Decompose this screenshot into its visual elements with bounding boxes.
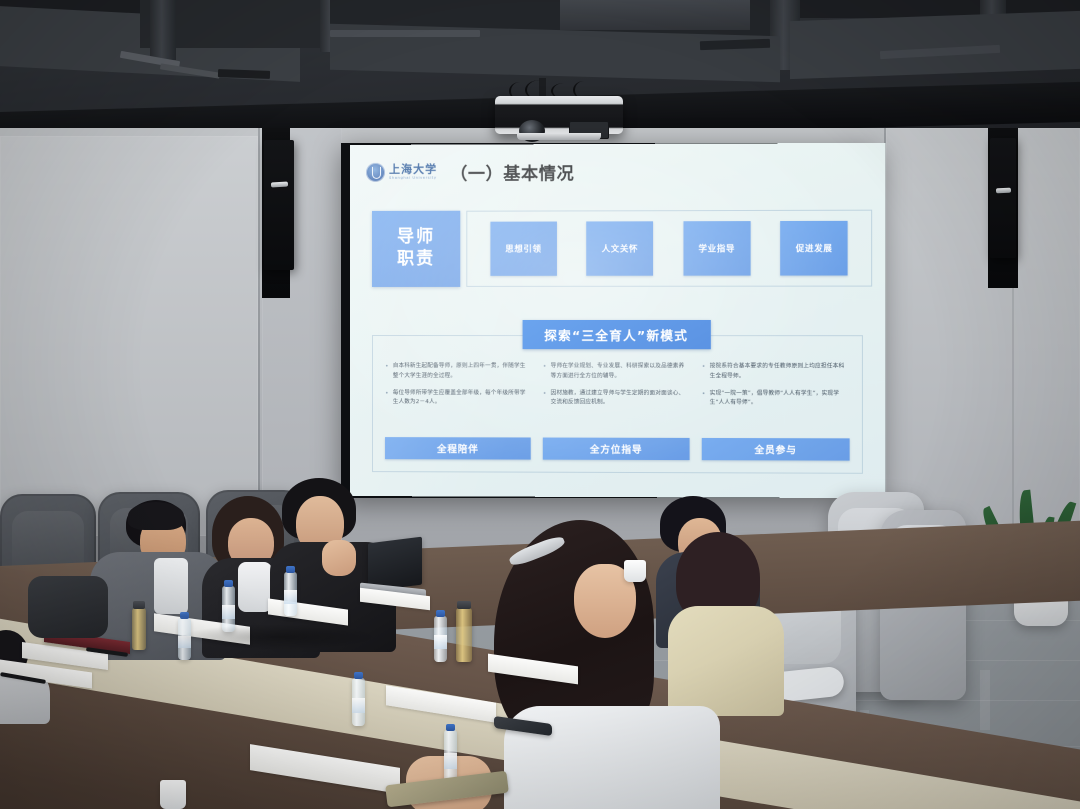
paper-cup-back[interactable] <box>624 560 646 582</box>
laptop-screen[interactable] <box>368 537 422 592</box>
bag <box>28 576 108 638</box>
duty-main-line-2: 职责 <box>397 251 435 269</box>
pillar-tag-1: 全程陪伴 <box>385 437 531 459</box>
shirt-collar <box>154 558 188 614</box>
duty-main-line-1: 导师 <box>397 229 435 247</box>
duty-item-4: 促进发展 <box>780 221 847 276</box>
ceiling-projector <box>487 78 632 140</box>
slide-title: （一）基本情况 <box>450 159 574 185</box>
pillar-column-2: •导师在学业规划、专业发展、科研探索以及品德素养等方面进行全方位的辅导。 •因材… <box>543 362 690 460</box>
hair-front <box>128 502 184 530</box>
presentation-slide: 上海大学 Shanghai University （一）基本情况 导师 职责 思… <box>350 143 885 498</box>
duty-item-2: 人文关怀 <box>586 221 653 275</box>
paper-cup[interactable] <box>160 780 186 809</box>
pillar-tag-2: 全方位指导 <box>543 438 690 461</box>
pillar-column-3: •按院系符合基本要求的专任教师原则上均应担任本科生全程导师。 •实现“一院一策”… <box>702 362 850 460</box>
tea-flask[interactable] <box>456 608 472 662</box>
hands-clasped <box>322 540 356 576</box>
pillar-tag-3: 全员参与 <box>702 438 850 461</box>
slide-banner: 探索“三全育人”新模式 <box>522 320 710 349</box>
projection-screen: 上海大学 Shanghai University （一）基本情况 导师 职责 思… <box>341 143 881 498</box>
pillar-column-1: •自本科新生起配备导师，原则上四年一贯，伴随学生整个大学生涯的全过程。 •每位导… <box>385 362 531 460</box>
shirt <box>238 562 272 612</box>
speaker-right <box>990 138 1016 258</box>
logo-text-en: Shanghai University <box>389 176 437 180</box>
tea-flask-small[interactable] <box>132 608 146 650</box>
university-logo: 上海大学 Shanghai University <box>366 162 437 181</box>
three-pillar-container: •自本科新生起配备导师，原则上四年一贯，伴随学生整个大学生涯的全过程。 •每位导… <box>372 335 863 474</box>
projector-body <box>495 96 623 134</box>
bullet-item: •实现“一院一策”，倡导教师“人人有学生”，实现学生“人人有导师”。 <box>702 389 850 409</box>
bullet-text: 实现“一院一策”，倡导教师“人人有学生”，实现学生“人人有导师”。 <box>710 389 850 409</box>
bullet-item: •自本科新生起配备导师，原则上四年一贯，伴随学生整个大学生涯的全过程。 <box>385 362 531 382</box>
duty-item-3: 学业指导 <box>683 221 750 276</box>
speaker-left <box>264 140 294 270</box>
table-shadow <box>180 624 380 650</box>
bullet-text: 自本科新生起配备导师，原则上四年一贯，伴随学生整个大学生涯的全过程。 <box>393 362 531 382</box>
bullet-text: 导师在学业规划、专业发展、科研探索以及品德素养等方面进行全方位的辅导。 <box>551 362 690 382</box>
shanghai-university-emblem-icon <box>366 162 385 181</box>
bullet-item: •按院系符合基本要求的专任教师原则上均应担任本科生全程导师。 <box>702 362 850 382</box>
slide-header: 上海大学 Shanghai University （一）基本情况 <box>366 153 871 189</box>
bullet-text: 因材施教，通过建立导师与学生定期的面对面谈心、交流和反馈回应机制。 <box>551 389 690 409</box>
conference-room-scene: 上海大学 Shanghai University （一）基本情况 导师 职责 思… <box>0 0 1080 809</box>
duty-items-container: 思想引领 人文关怀 学业指导 促进发展 <box>466 210 872 287</box>
logo-text-cn: 上海大学 <box>389 163 437 174</box>
water-bottle[interactable] <box>284 572 297 616</box>
bullet-item: •导师在学业规划、专业发展、科研探索以及品德素养等方面进行全方位的辅导。 <box>543 362 690 382</box>
bullet-text: 每位导师所带学生应覆盖全部年级，每个年级所带学生人数为2－4人。 <box>393 389 531 409</box>
bullet-item: •每位导师所带学生应覆盖全部年级，每个年级所带学生人数为2－4人。 <box>385 389 531 409</box>
bullet-item: •因材施教，通过建立导师与学生定期的面对面谈心、交流和反馈回应机制。 <box>543 389 690 409</box>
projector-base <box>517 133 601 140</box>
bullet-text: 按院系符合基本要求的专任教师原则上均应担任本科生全程导师。 <box>710 362 850 382</box>
water-bottle[interactable] <box>434 616 447 662</box>
water-bottle[interactable] <box>352 678 365 726</box>
duty-diagram: 导师 职责 思想引领 人文关怀 学业指导 促进发展 <box>372 210 872 287</box>
duty-item-1: 思想引领 <box>490 222 557 276</box>
duty-main-box: 导师 职责 <box>372 211 460 287</box>
